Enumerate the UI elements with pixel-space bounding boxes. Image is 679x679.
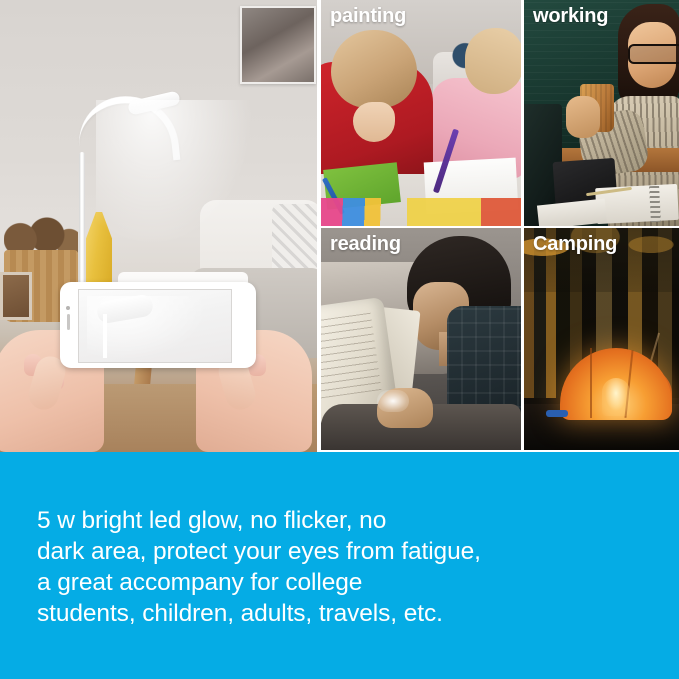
- caption-banner: 5 w bright led glow, no flicker, no dark…: [0, 452, 679, 679]
- woman-hand: [566, 96, 600, 138]
- blue-gear-item: [546, 410, 568, 417]
- hero-image-desk-lamp-living-room[interactable]: [0, 0, 317, 452]
- book-text-lines: [321, 313, 381, 399]
- tile-label-reading: reading: [330, 234, 401, 255]
- phone-screen: [78, 289, 232, 363]
- yellow-bottle: [86, 212, 112, 290]
- tile-working[interactable]: working: [524, 0, 679, 226]
- tile-label-camping: Camping: [533, 234, 617, 255]
- product-feature-page: painting working: [0, 0, 679, 679]
- framed-wall-art: [240, 6, 316, 84]
- image-collage: painting working: [0, 0, 679, 452]
- notebook-spiral: [649, 186, 661, 222]
- phone-camera-icon: [66, 306, 70, 310]
- child-pink-head: [465, 28, 521, 94]
- caption-text: 5 w bright led glow, no flicker, no dark…: [37, 505, 637, 629]
- small-picture-frame: [0, 272, 32, 320]
- tile-label-painting: painting: [330, 6, 406, 27]
- tile-camping[interactable]: Camping: [524, 228, 679, 450]
- screen-lamp-stem: [103, 314, 107, 358]
- tent-door-glow: [602, 378, 630, 416]
- child-red-head: [331, 30, 417, 108]
- tent-seam: [590, 348, 592, 418]
- coloured-pencils: [321, 198, 521, 226]
- eyeglasses: [628, 44, 679, 64]
- child-red-face: [353, 102, 395, 142]
- tile-label-working: working: [533, 6, 608, 27]
- reading-light-glow: [377, 390, 409, 412]
- tile-painting[interactable]: painting: [321, 0, 521, 226]
- phone-earpiece: [67, 314, 70, 330]
- tile-reading[interactable]: reading: [321, 228, 521, 450]
